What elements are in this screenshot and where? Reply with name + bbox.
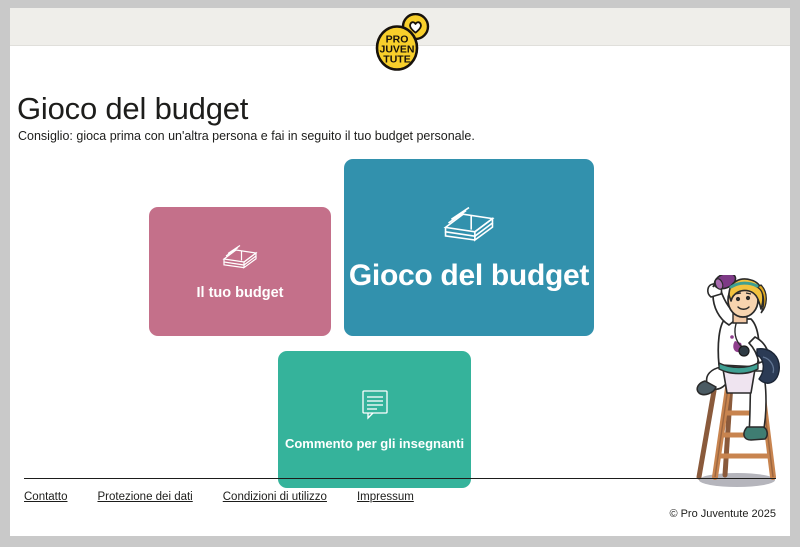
tile-your-budget[interactable]: Il tuo budget xyxy=(149,207,331,336)
footer-link-contatto[interactable]: Contatto xyxy=(24,491,67,503)
pro-juventute-logo[interactable]: PRO JUVEN TUTE xyxy=(372,13,432,71)
footer: Contatto Protezione dei dati Condizioni … xyxy=(10,478,790,536)
footer-copyright: © Pro Juventute 2025 xyxy=(669,508,776,520)
tile-grid: Il tuo budget Gioco del bu xyxy=(10,47,790,487)
tile-label: Gioco del budget xyxy=(349,258,589,293)
app-window: PRO JUVEN TUTE Gioco del budget Consigli… xyxy=(10,8,790,536)
tile-budget-game[interactable]: Gioco del budget xyxy=(344,159,594,336)
footer-links: Contatto Protezione dei dati Condizioni … xyxy=(24,491,414,503)
footer-link-impressum[interactable]: Impressum xyxy=(357,491,414,503)
painter-on-ladder-illustration xyxy=(685,275,789,501)
page-body: Gioco del budget Consiglio: gioca prima … xyxy=(10,47,790,536)
money-stack-icon xyxy=(221,241,259,271)
footer-link-condizioni-di-utilizzo[interactable]: Condizioni di utilizzo xyxy=(223,491,327,503)
tile-teacher-comment[interactable]: Commento per gli insegnanti xyxy=(278,351,471,488)
money-stack-icon xyxy=(441,201,497,245)
footer-link-protezione-dei-dati[interactable]: Protezione dei dati xyxy=(97,491,192,503)
tile-label: Commento per gli insegnanti xyxy=(285,436,464,451)
tile-label: Il tuo budget xyxy=(197,285,284,302)
footer-divider xyxy=(24,478,776,479)
logo-line3: TUTE xyxy=(383,54,410,66)
comment-document-icon xyxy=(359,388,391,420)
